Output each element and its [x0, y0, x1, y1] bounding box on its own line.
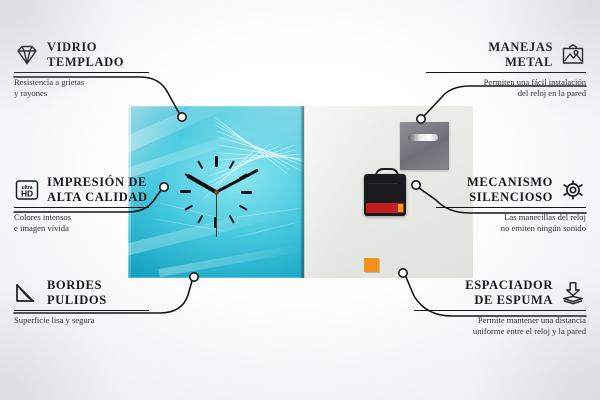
- callout-title: METAL: [488, 55, 553, 70]
- ultra-hd-icon: ultra HD: [14, 178, 40, 202]
- callout-desc: e imagen vívida: [14, 223, 149, 234]
- callout-title: ALTA CALIDAD: [47, 190, 148, 205]
- diamond-icon: [14, 43, 40, 67]
- callout-title: BORDES: [47, 278, 107, 293]
- clock-movement-mechanism: [364, 174, 406, 216]
- callout-desc: Permite mantener una distancia: [414, 315, 586, 326]
- product-image: [128, 106, 473, 278]
- callout-title: TEMPLADO: [47, 55, 124, 70]
- callout-polished-edges[interactable]: BORDES PULIDOS Superficie lisa y segura: [14, 278, 149, 326]
- foam-spacer-pad: [364, 258, 379, 272]
- callout-title: ESPACIADOR: [465, 278, 553, 293]
- callout-title: VIDRIO: [47, 40, 124, 55]
- callout-desc: Colores intensos: [14, 212, 149, 223]
- callout-divider: [14, 207, 149, 208]
- callout-desc: Superficie lisa y segura: [14, 315, 149, 326]
- callout-desc: y rayones: [14, 88, 149, 99]
- picture-hanger-icon: [560, 43, 586, 67]
- callout-hd-print[interactable]: ultra HD IMPRESIÓN DE ALTA CALIDAD Color…: [14, 175, 149, 233]
- callout-desc: Resistencia a grietas: [14, 77, 149, 88]
- callout-divider: [436, 207, 586, 208]
- clock-pivot: [214, 190, 219, 195]
- callout-divider: [14, 72, 149, 73]
- callout-foam-spacer[interactable]: ESPACIADOR DE ESPUMA Permite mantener un…: [414, 278, 586, 336]
- callout-title: SILENCIOSO: [467, 190, 553, 205]
- callout-title: PULIDOS: [47, 293, 107, 308]
- callout-silent-mechanism[interactable]: MECANISMO SILENCIOSO Las manecillas del …: [436, 175, 586, 233]
- callout-desc: Permiten una fácil instalación: [426, 77, 586, 88]
- callout-title: DE ESPUMA: [465, 293, 553, 308]
- callout-desc: Las manecillas del reloj: [436, 212, 586, 223]
- callout-desc: uniforme entre el reloj y la pared: [414, 326, 586, 337]
- callout-tempered-glass[interactable]: VIDRIO TEMPLADO Resistencia a grietas y …: [14, 40, 149, 98]
- clock-front-face: [128, 106, 304, 278]
- clock-second-hand: [216, 192, 217, 237]
- metal-hanger-plate: [400, 122, 449, 170]
- callout-title: MECANISMO: [467, 175, 553, 190]
- callout-title: MANEJAS: [488, 40, 553, 55]
- callout-divider: [414, 310, 586, 311]
- beveled-edge-icon: [14, 281, 40, 305]
- callout-desc: del reloj en la pared: [426, 88, 586, 99]
- callout-desc: no emiten ningún sonido: [436, 223, 586, 234]
- callout-divider: [14, 310, 149, 311]
- gear-icon: [560, 178, 586, 202]
- infographic-stage: VIDRIO TEMPLADO Resistencia a grietas y …: [0, 0, 600, 400]
- callout-divider: [426, 72, 586, 73]
- callout-title: IMPRESIÓN DE: [47, 175, 148, 190]
- svg-text:HD: HD: [21, 188, 33, 198]
- callout-metal-handles[interactable]: MANEJAS METAL Permiten una fácil instala…: [426, 40, 586, 98]
- foam-pad-arrow-icon: [560, 281, 586, 305]
